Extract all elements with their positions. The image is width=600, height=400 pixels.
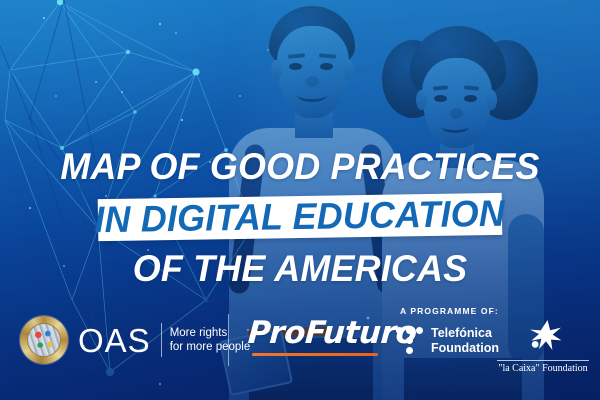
promotional-banner: MAP OF GOOD PRACTICES IN DIGITAL EDUCATI…: [0, 0, 600, 400]
telefonica-dots-icon: [396, 327, 424, 355]
telefonica-line2: Foundation: [431, 341, 499, 355]
logo-bar: OAS More rights for more people ProFutur…: [0, 300, 600, 400]
logo-separator: [228, 314, 229, 366]
oas-tagline: More rights for more people: [170, 326, 251, 354]
title-line-2: IN DIGITAL EDUCATION: [94, 195, 505, 239]
oas-seal-icon: [20, 316, 68, 364]
profuturo-logo[interactable]: ProFuturo: [248, 318, 417, 356]
oas-seal-center: [27, 323, 61, 357]
lacaixa-foundation-logo[interactable]: "la Caixa" Foundation: [497, 318, 589, 374]
oas-divider: [161, 323, 162, 357]
profuturo-name: ProFuturo: [247, 318, 418, 349]
profuturo-underline: [252, 353, 378, 356]
telefonica-foundation-logo[interactable]: Telefónica Foundation: [396, 326, 499, 356]
oas-name: OAS: [78, 324, 151, 357]
telefonica-line1: Telefónica: [431, 326, 492, 340]
programme-of-label: A PROGRAMME OF:: [400, 306, 499, 316]
title-line-3: OF THE AMERICAS: [9, 250, 591, 287]
oas-tagline-line1: More rights: [170, 327, 228, 339]
oas-logo[interactable]: OAS More rights for more people: [20, 316, 250, 364]
oas-tagline-line2: for more people: [170, 341, 251, 353]
title-block: MAP OF GOOD PRACTICES IN DIGITAL EDUCATI…: [0, 148, 600, 287]
title-line-1: MAP OF GOOD PRACTICES: [9, 148, 591, 185]
telefonica-wordmark: Telefónica Foundation: [431, 326, 499, 356]
lacaixa-wordmark: "la Caixa" Foundation: [497, 360, 589, 374]
title-highlight-band-wrap: IN DIGITAL EDUCATION: [0, 194, 600, 240]
lacaixa-star-icon: [523, 318, 563, 352]
oas-wordmark: OAS More rights for more people: [78, 323, 250, 357]
